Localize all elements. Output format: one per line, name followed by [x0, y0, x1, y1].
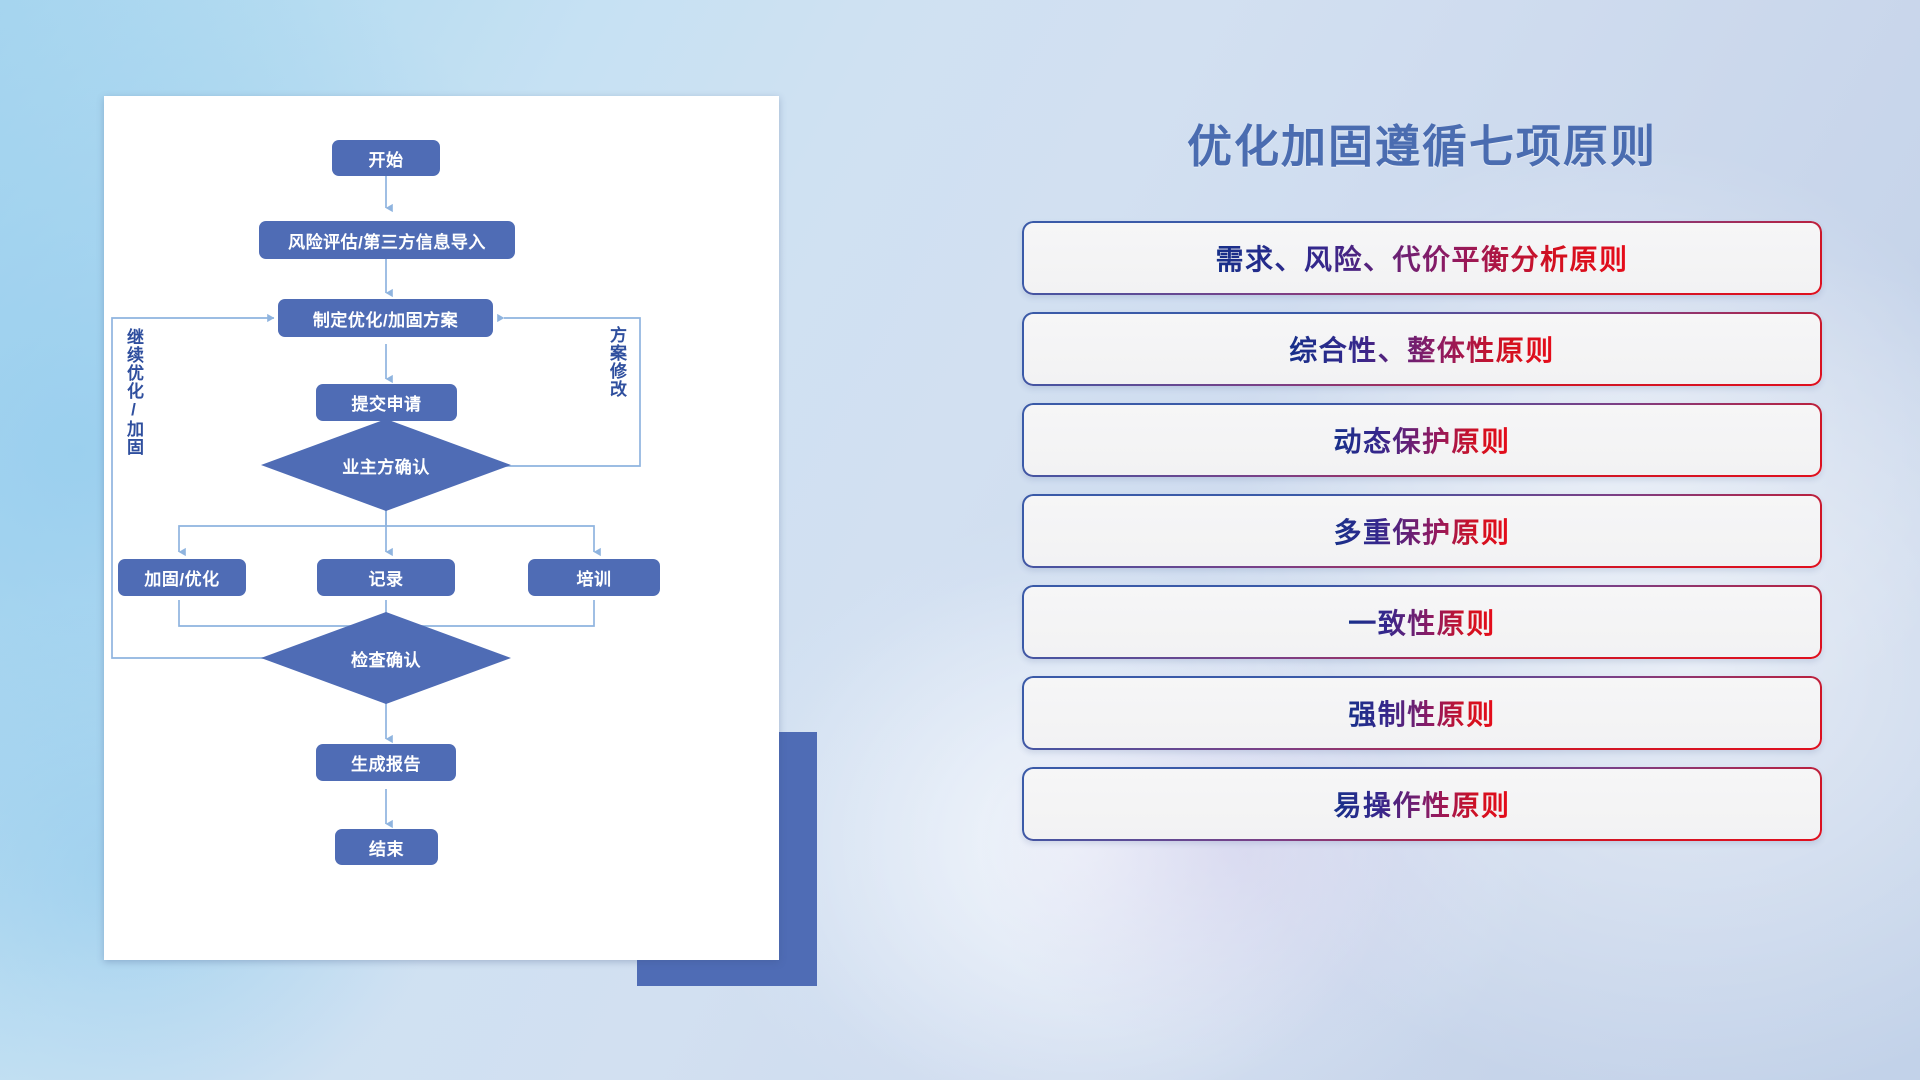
- flow-node-label: 开始: [369, 146, 404, 171]
- flowchart-canvas: 开始 风险评估/第三方信息导入 制定优化/加固方案 提交申请 业主方确认 加固/…: [104, 96, 779, 960]
- flow-node-label: 提交申请: [352, 390, 422, 415]
- principle-card-label: 强制性原则: [1348, 693, 1496, 733]
- flow-node-report[interactable]: 生成报告: [316, 744, 456, 781]
- principle-card-label: 需求、风险、代价平衡分析原则: [1215, 238, 1628, 278]
- flow-node-label: 制定优化/加固方案: [313, 306, 458, 331]
- flow-node-training[interactable]: 培训: [528, 559, 660, 596]
- principle-card-4[interactable]: 多重保护原则: [1022, 494, 1822, 568]
- flow-node-record[interactable]: 记录: [317, 559, 455, 596]
- flow-decision-label: 业主方确认: [260, 418, 512, 512]
- flow-node-risk-assessment[interactable]: 风险评估/第三方信息导入: [259, 221, 515, 259]
- flow-node-reinforce[interactable]: 加固/优化: [118, 559, 246, 596]
- flow-node-label: 记录: [369, 565, 404, 590]
- flow-node-label: 风险评估/第三方信息导入: [288, 228, 486, 253]
- flow-decision-owner-confirm[interactable]: 业主方确认: [260, 418, 512, 512]
- principle-card-label: 多重保护原则: [1333, 511, 1510, 551]
- principle-card-2[interactable]: 综合性、整体性原则: [1022, 312, 1822, 386]
- principles-section: 优化加固遵循七项原则 需求、风险、代价平衡分析原则 综合性、整体性原则 动态保护…: [1022, 110, 1822, 858]
- flow-node-label: 加固/优化: [144, 565, 219, 590]
- principle-card-7[interactable]: 易操作性原则: [1022, 767, 1822, 841]
- slide-canvas: 开始 风险评估/第三方信息导入 制定优化/加固方案 提交申请 业主方确认 加固/…: [0, 0, 1920, 1080]
- principle-card-label: 易操作性原则: [1333, 784, 1510, 824]
- principle-card-5[interactable]: 一致性原则: [1022, 585, 1822, 659]
- flowchart-panel: 开始 风险评估/第三方信息导入 制定优化/加固方案 提交申请 业主方确认 加固/…: [104, 96, 779, 960]
- flow-node-submit[interactable]: 提交申请: [316, 384, 457, 421]
- flow-decision-label: 检查确认: [260, 611, 512, 705]
- principle-card-6[interactable]: 强制性原则: [1022, 676, 1822, 750]
- flow-node-label: 培训: [577, 565, 612, 590]
- principles-title: 优化加固遵循七项原则: [1022, 110, 1822, 175]
- principle-card-3[interactable]: 动态保护原则: [1022, 403, 1822, 477]
- principle-card-label: 一致性原则: [1348, 602, 1496, 642]
- principle-card-1[interactable]: 需求、风险、代价平衡分析原则: [1022, 221, 1822, 295]
- flow-node-label: 结束: [369, 835, 404, 860]
- principle-card-label: 综合性、整体性原则: [1289, 329, 1555, 369]
- flow-node-end[interactable]: 结束: [335, 829, 438, 865]
- flow-node-label: 生成报告: [351, 750, 421, 775]
- flow-edge-label-right: 方案修改: [607, 326, 625, 398]
- flow-decision-check-confirm[interactable]: 检查确认: [260, 611, 512, 705]
- flow-node-start[interactable]: 开始: [332, 140, 440, 176]
- principle-card-label: 动态保护原则: [1333, 420, 1510, 460]
- flow-node-plan[interactable]: 制定优化/加固方案: [278, 299, 493, 337]
- flow-edge-label-left: 继续优化/加固: [124, 328, 142, 456]
